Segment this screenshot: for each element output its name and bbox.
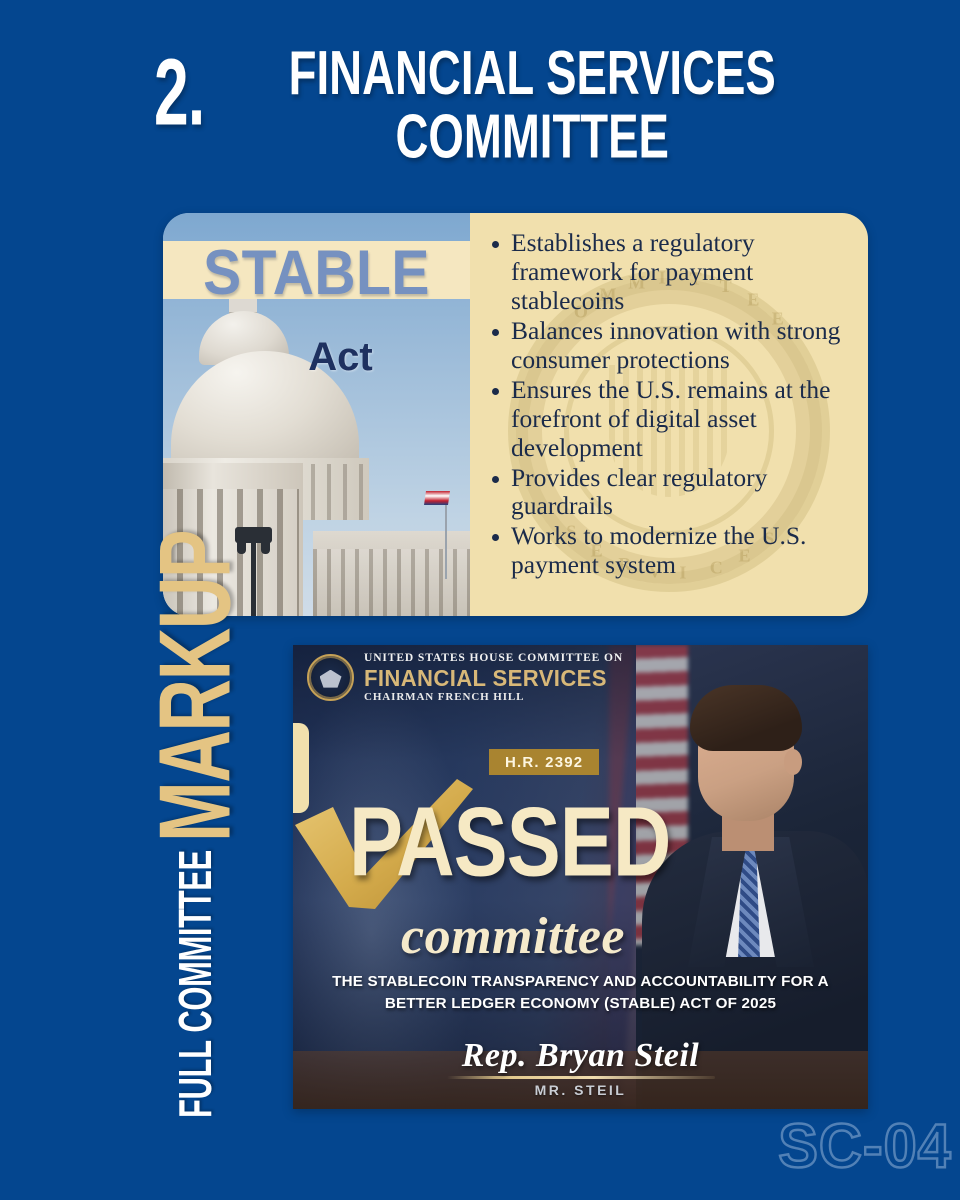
status-committee-text: committee — [401, 907, 625, 966]
committee-branding-text: UNITED STATES HOUSE COMMITTEE ON FINANCI… — [364, 653, 623, 703]
portrait-ear — [784, 749, 802, 775]
list-item: Establishes a regulatory framework for p… — [488, 229, 850, 316]
bill-subtitle: Act — [163, 335, 470, 380]
list-item: Ensures the U.S. remains at the forefron… — [488, 376, 850, 463]
bill-summary-list: Establishes a regulatory framework for p… — [488, 229, 850, 580]
bill-full-title-caption: THE STABLECOIN TRANSPARENCY AND ACCOUNTA… — [293, 971, 868, 1014]
stable-act-info-card: STABLE Act C O M M I T T E E S E C I V R… — [163, 213, 868, 616]
us-flag-icon — [424, 491, 450, 505]
signature-block: Rep. Bryan Steil MR. STEIL — [293, 1037, 868, 1098]
markup-vertical-label: FULL COMMITTEE MARKUP — [98, 648, 294, 1118]
section-number: 2. — [154, 48, 204, 138]
representative-signature: Rep. Bryan Steil — [293, 1037, 868, 1075]
bill-number-badge: H.R. 2392 — [489, 749, 599, 775]
markup-label-line2: MARKUP — [138, 531, 254, 842]
status-passed-text: PASSED — [349, 785, 670, 899]
committee-header-line3: CHAIRMAN FRENCH HILL — [364, 692, 623, 703]
passed-committee-graphic: UNITED STATES HOUSE COMMITTEE ON FINANCI… — [293, 645, 868, 1109]
signature-underline — [447, 1076, 715, 1079]
list-item: Works to modernize the U.S. payment syst… — [488, 522, 850, 580]
flag-pole-icon — [445, 493, 447, 579]
bill-title: STABLE — [163, 237, 470, 310]
committee-header-line2: FINANCIAL SERVICES — [364, 667, 613, 690]
markup-vertical-label-inner: FULL COMMITTEE MARKUP — [98, 648, 294, 1118]
portrait-hair — [690, 685, 802, 751]
committee-seal-icon — [307, 654, 354, 701]
district-watermark: SC-04 — [778, 1111, 952, 1182]
page-header: 2. FINANCIAL SERVICES COMMITTEE — [0, 30, 960, 190]
page-title: FINANCIAL SERVICES COMMITTEE — [289, 42, 776, 170]
markup-label-line1: FULL COMMITTEE — [170, 850, 223, 1118]
committee-header-line1: UNITED STATES HOUSE COMMITTEE ON — [364, 653, 623, 665]
list-item: Provides clear regulatory guardrails — [488, 464, 850, 522]
nameplate-text: MR. STEIL — [293, 1082, 868, 1098]
list-item: Balances innovation with strong consumer… — [488, 317, 850, 375]
bill-summary-panel: C O M M I T T E E S E C I V R E S Establ… — [470, 213, 868, 616]
committee-branding-header: UNITED STATES HOUSE COMMITTEE ON FINANCI… — [307, 653, 623, 703]
